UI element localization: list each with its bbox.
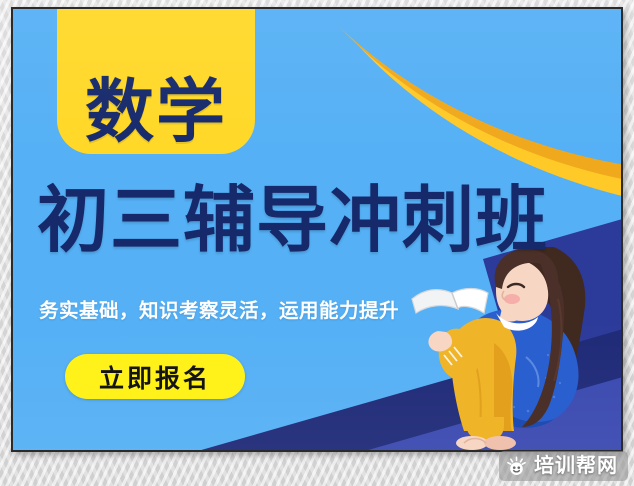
hair-back-shape — [510, 247, 586, 423]
toe-line — [464, 439, 486, 444]
face-shape — [496, 260, 548, 321]
subject-badge: 数学 — [57, 9, 255, 154]
watermark-text: 培训帮网 — [534, 456, 618, 476]
woman-reading-book-illustration — [408, 247, 621, 450]
dress-yellow-shape — [450, 318, 516, 431]
hair-side-sweep — [522, 263, 564, 427]
book-left-page — [412, 290, 458, 313]
hair-strand-line — [554, 299, 561, 381]
dress-fold-line — [472, 353, 481, 427]
subject-badge-label: 数学 — [85, 77, 227, 146]
swoosh-orange-edge-layer — [229, 9, 621, 192]
cheek-blush — [504, 294, 520, 304]
foot-left — [456, 436, 488, 450]
sweater-blanket-shape — [466, 309, 579, 428]
swoosh-blue-cutout-layer — [211, 9, 621, 174]
book-right-page — [452, 289, 488, 314]
sleeve-cuff-lines — [444, 347, 462, 365]
dress-hem — [466, 417, 504, 441]
poster-frame: 数学 初三辅导冲刺班 务实基础，知识考察灵活，运用能力提升 立即报名 — [11, 7, 623, 452]
hand-shape — [428, 331, 452, 352]
sweater-fold-line-2 — [544, 377, 550, 411]
collar-shape — [496, 313, 538, 331]
poster-subtitle: 务实基础，知识考察灵活，运用能力提升 — [39, 302, 399, 322]
sweater-shadow — [492, 397, 554, 428]
poster-headline: 初三辅导冲刺班 — [37, 185, 548, 257]
neck-shape — [500, 299, 522, 322]
book-spine — [452, 293, 458, 309]
foot-right — [484, 436, 516, 450]
sweater-texture — [477, 354, 561, 412]
poster-image-canvas: 数学 初三辅导冲刺班 务实基础，知识考察灵活，运用能力提升 立即报名 — [0, 0, 634, 486]
enroll-now-button[interactable]: 立即报名 — [65, 354, 245, 399]
nose-line — [502, 291, 506, 300]
sweater-fold-line — [526, 357, 539, 387]
poster-artboard: 数学 初三辅导冲刺班 务实基础，知识考察灵活，运用能力提升 立即报名 — [13, 9, 621, 450]
dress-shadow — [494, 343, 512, 431]
smiley-sun-face-icon — [506, 456, 527, 477]
closed-eye — [508, 284, 524, 287]
sleeve-shape — [439, 329, 480, 380]
site-watermark: 培训帮网 — [499, 451, 628, 481]
bottom-right-blue-band-decoration — [183, 303, 621, 450]
